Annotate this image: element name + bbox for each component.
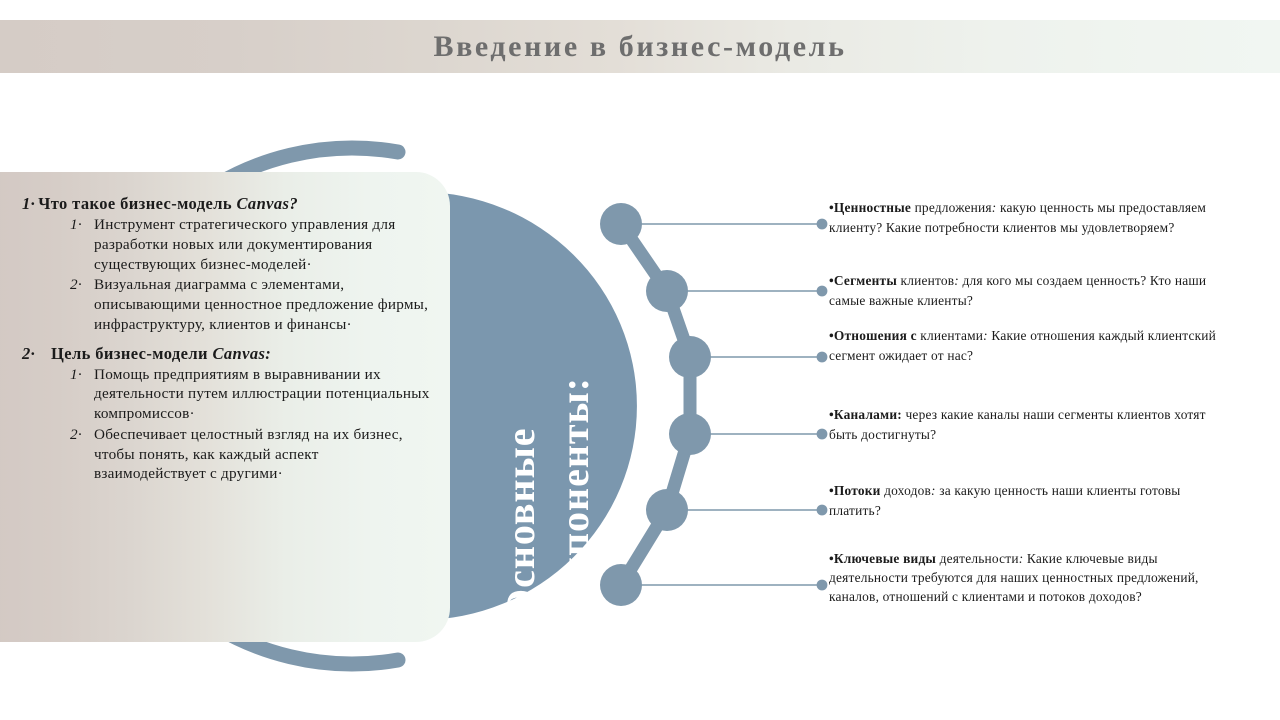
- component-item-4: •Каналами: через какие каналы наши сегме…: [829, 405, 1229, 446]
- ring-node-6: [600, 564, 642, 606]
- left-item-1-2: 2· Визуальная диаграмма с элементами, оп…: [22, 275, 434, 334]
- ring-node-2: [646, 270, 688, 312]
- ring-node-3: [669, 336, 711, 378]
- text-dot-6: [817, 580, 828, 591]
- component-bold-3: Отношения с: [834, 328, 917, 343]
- left-heading-2-number: 2·: [22, 344, 48, 364]
- component-plain-3: клиентами: [917, 328, 983, 343]
- left-item-2-2-text: Обеспечивает целостный взгляд на их бизн…: [94, 425, 434, 484]
- component-item-3: •Отношения с клиентами: Какие отношения …: [829, 326, 1229, 367]
- left-heading-2: 2· Цель бизнес-модели Canvas:: [22, 344, 434, 364]
- text-dot-2: [817, 286, 828, 297]
- ring-node-5: [646, 489, 688, 531]
- ring-node-1: [600, 203, 642, 245]
- circle-label-line-1: Основные: [497, 427, 544, 620]
- left-heading-2-emphasis: Canvas:: [212, 344, 271, 363]
- left-item-1-1-text: Инструмент стратегического управления дл…: [94, 215, 434, 274]
- left-item-2-1-text: Помощь предприятиям в выравнивании их де…: [94, 365, 434, 424]
- left-heading-1-number: 1·: [22, 194, 35, 214]
- left-heading-1-emphasis: Canvas?: [237, 194, 298, 213]
- left-heading-1: 1· Что такое бизнес-модель Canvas?: [22, 194, 434, 214]
- text-dot-4: [817, 429, 828, 440]
- left-item-2-1: 1· Помощь предприятиям в выравнивании их…: [22, 365, 434, 424]
- component-bold-5: Потоки: [834, 483, 881, 498]
- text-dot-3: [817, 352, 828, 363]
- left-item-2-1-number: 1·: [70, 365, 94, 385]
- left-heading-1-text: Что такое бизнес-модель: [38, 194, 236, 213]
- left-item-1-2-number: 2·: [70, 275, 94, 295]
- component-plain-6: деятельности: [936, 551, 1019, 566]
- left-item-2-2: 2· Обеспечивает целостный взгляд на их б…: [22, 425, 434, 484]
- component-item-1: •Ценностные предложения: какую ценность …: [829, 198, 1229, 239]
- left-item-1-1: 1· Инструмент стратегического управления…: [22, 215, 434, 274]
- component-item-5: •Потоки доходов: за какую ценность наши …: [829, 481, 1229, 522]
- component-bold-2: Сегменты: [834, 273, 897, 288]
- text-dot-5: [817, 505, 828, 516]
- circle-label-line-2: компоненты:: [551, 377, 598, 628]
- left-item-1-2-text: Визуальная диаграмма с элементами, описы…: [94, 275, 434, 334]
- left-item-2-2-number: 2·: [70, 425, 94, 445]
- component-bold-1: Ценностные: [834, 200, 911, 215]
- component-item-6: •Ключевые виды деятельности: Какие ключе…: [829, 550, 1229, 606]
- component-bold-4: Каналами:: [834, 407, 902, 422]
- ring-node-4: [669, 413, 711, 455]
- text-dot-1: [817, 219, 828, 230]
- text-dots: [817, 219, 828, 591]
- component-bold-6: Ключевые виды: [834, 551, 936, 566]
- component-item-2: •Сегменты клиентов: для кого мы создаем …: [829, 271, 1229, 312]
- left-heading-2-text: Цель бизнес-модели: [51, 344, 212, 363]
- component-plain-2: клиентов: [897, 273, 954, 288]
- left-item-1-1-number: 1·: [70, 215, 94, 235]
- component-plain-5: доходов: [881, 483, 931, 498]
- component-plain-1: предложения: [911, 200, 992, 215]
- components-list: •Ценностные предложения: какую ценность …: [829, 0, 1237, 720]
- left-text-block: 1· Что такое бизнес-модель Canvas? 1· Ин…: [22, 192, 434, 484]
